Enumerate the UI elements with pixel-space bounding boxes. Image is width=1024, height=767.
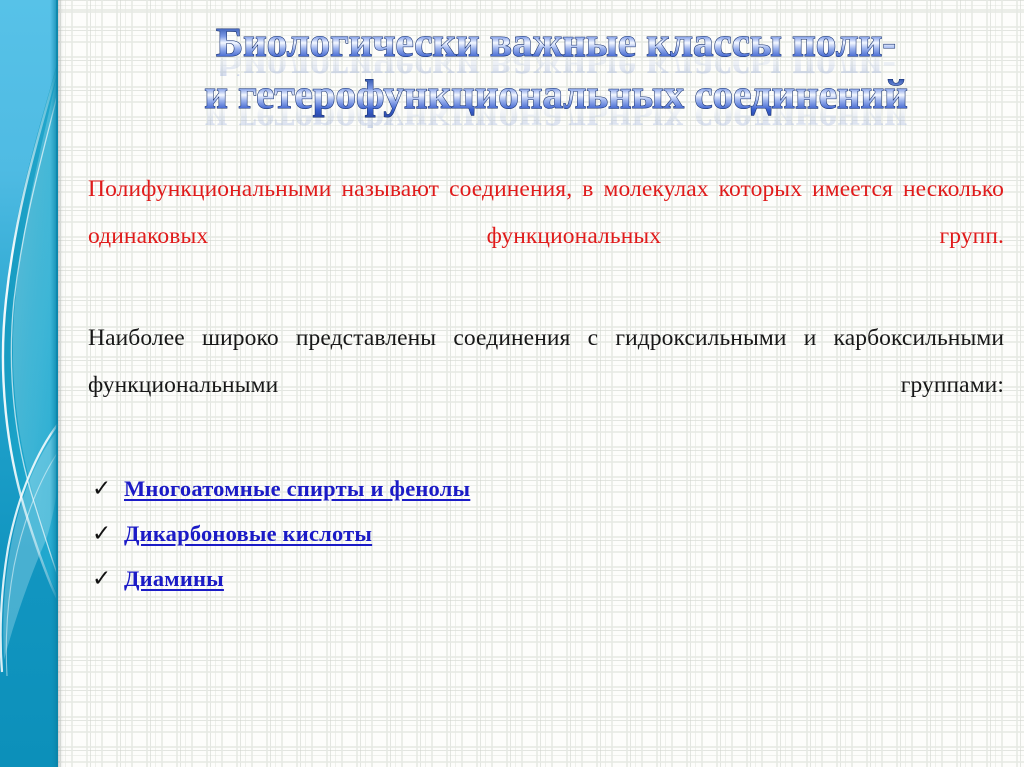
link-diamines[interactable]: Диамины [124, 556, 224, 601]
paragraph-definition: Полифункциональными называют соединения,… [88, 166, 1004, 307]
link-dicarboxylic-acids[interactable]: Дикарбоновые кислоты [124, 511, 372, 556]
check-mark-icon: ✓ [88, 467, 124, 512]
check-mark-icon: ✓ [88, 512, 124, 557]
list-item[interactable]: ✓ Диамины [88, 556, 1004, 601]
presentation-slide: Биологически важные классы поли- Биологи… [0, 0, 1024, 767]
paragraph-most-common: Наиболее широко представлены соединения … [88, 315, 1004, 456]
check-mark-icon: ✓ [88, 557, 124, 602]
slide-body: Полифункциональными называют соединения,… [88, 166, 1004, 601]
list-item[interactable]: ✓ Многоатомные спирты и фенолы [88, 466, 1004, 511]
link-polyhydric-alcohols-and-phenols[interactable]: Многоатомные спирты и фенолы [124, 466, 470, 511]
compound-class-list: ✓ Многоатомные спирты и фенолы ✓ Дикарбо… [88, 466, 1004, 601]
left-decorative-band [0, 0, 58, 767]
list-item[interactable]: ✓ Дикарбоновые кислоты [88, 511, 1004, 556]
band-drop-shadow [58, 0, 65, 767]
